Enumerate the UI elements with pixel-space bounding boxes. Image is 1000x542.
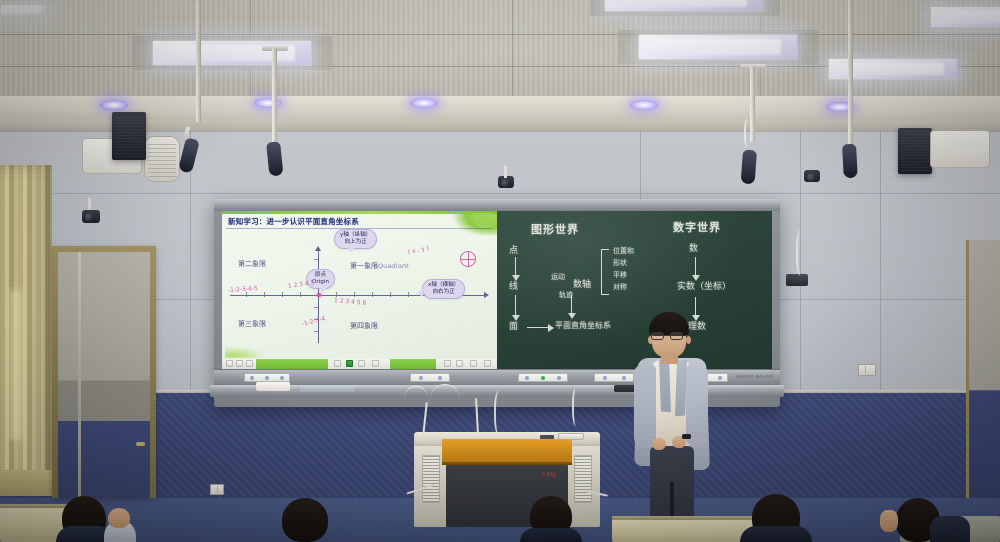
ink-annotation: ( x , y ) [407,245,429,256]
chalk-node-shu: 数 [689,241,698,254]
taskbar-green-block[interactable] [390,359,436,369]
taskbar-icon[interactable] [358,360,365,367]
bezel-control-plate[interactable] [410,373,450,382]
taskbar-icon[interactable] [372,360,379,367]
chalk-arrow-right [527,327,549,328]
x-axis-callout: x轴（横轴） 向右为正 [422,279,465,299]
coordinate-plane-graphic: 第二象限 第一象限Quadrant 第三象限 第四象限 原点 Origin y轴… [222,229,497,347]
indicator-dot-active [541,376,545,380]
wall-junction-box [786,274,808,286]
x-axis-arrow [484,292,489,298]
camera-mount-arm [504,166,507,178]
shelf-cable-bundle [300,385,354,392]
wall-cable [796,230,808,276]
origin-point [317,293,321,297]
ceiling-pole [196,0,201,122]
x-tick [264,292,265,297]
chalk-arrow-down [695,257,696,277]
y-axis-callout-line1: y轴（纵轴） [340,232,371,239]
ink-annotation: 1 2 3 4 5 [288,279,315,290]
power-outlet[interactable] [210,484,224,495]
indicator-dot [603,376,607,380]
taskbar-icon[interactable] [456,360,463,367]
door-left[interactable] [52,246,156,498]
teacher[interactable] [620,306,726,542]
student-body [930,516,970,542]
taskbar-icon[interactable] [226,360,233,367]
podium-logo: FSQ [542,472,556,478]
ink-annotation: -1-2-3-4 [301,315,326,328]
x-tick [354,292,355,297]
chalk-left-heading: 图形世界 [531,221,579,237]
projector-screen[interactable]: 新知学习：进一步认识平面直角坐标系 [222,211,497,369]
ceiling-panel-light [638,34,798,60]
slide-bottom-decor [225,346,267,358]
indicator-dot [265,376,269,380]
x-tick [372,292,373,297]
slide-title: 新知学习：进一步认识平面直角坐标系 [228,217,359,226]
x-axis-callout-line2: 向右为正 [428,289,459,296]
board-top-rail [214,199,780,211]
floor-cable [572,388,582,426]
quadrant-1-en: Quadrant [378,262,409,270]
chalk-bracket-item-4: 对称 [613,283,627,292]
camera-lens [807,173,816,182]
indicator-dot [438,376,442,380]
bezel-control-plate[interactable] [244,373,290,382]
chalk-node-dian: 点 [509,243,518,256]
downlight [254,98,282,108]
classroom-screenshot: 新知学习：进一步认识平面直角坐标系 [0,0,1000,542]
downlight [410,98,438,108]
shelf-white-box [256,382,290,391]
student-desk-edge [612,516,758,520]
glasses-lens-left [651,332,664,340]
chalk-arrow-down [571,295,572,315]
wall-seam-v [880,131,881,393]
student-hand [108,508,130,528]
power-outlet[interactable] [858,364,876,376]
chalk-arrow-down [515,295,516,317]
hanging-microphone [741,150,757,185]
y-tick [314,331,319,332]
board-brand-text: SMART BOARD [736,374,774,379]
quadrant-3-label: 第三象限 [238,319,266,329]
chalk-arrow-down [515,257,516,277]
ceiling-panel-light [0,4,46,16]
y-tick [314,259,319,260]
chalk-branch-label-top: 运动 [551,273,565,282]
quadrant-4-label: 第四象限 [350,321,378,331]
camera-lens [85,213,94,222]
indicator-dot [557,376,561,380]
air-vent [144,136,180,182]
curtain-light-glow [6,290,26,440]
chalk-bracket-item-2: 形状 [613,259,627,268]
student-body [740,526,812,542]
wall-speaker-right [898,128,932,174]
chalk-bottom-note: 平面直角坐标系 [555,321,611,330]
indicator-dot [250,376,254,380]
floor-cable [494,390,508,436]
door-lower-panel [58,421,150,498]
quadrant-1-label: 第一象限Quadrant [350,261,409,271]
y-axis-callout-line2: 向上为正 [340,239,371,246]
chalk-node-xian: 线 [509,279,518,292]
taskbar-icon[interactable] [484,360,491,367]
y-axis-arrow [315,246,321,251]
ink-circle-mark [460,251,476,267]
podium-speaker-grille [574,455,592,503]
ceiling-panel-light [152,40,312,66]
ink-annotation: -1-2-3-4-5 [228,285,258,294]
taskbar-icon[interactable] [246,360,253,367]
chalk-branch-head: 数轴 [573,277,591,290]
door-handle[interactable] [136,442,145,446]
teacher-wristwatch [682,434,691,439]
hanging-microphone [842,144,858,179]
quadrant-2-label: 第二象限 [238,259,266,269]
wall-ac-unit [930,130,990,168]
door-right[interactable] [966,240,1000,498]
taskbar-icon[interactable] [470,360,477,367]
chalk-node-shishu: 实数（坐标） [677,279,731,292]
ink-annotation: 1 2 3 4 5 6 [334,297,367,307]
indicator-dot [419,376,423,380]
chalk-bracket-item-1: 位置和 [613,247,634,256]
y-tick [314,307,319,308]
screen-taskbar[interactable] [222,359,497,369]
door-seam [78,252,81,498]
teacher-arm-left [634,364,656,448]
teacher-ear [686,336,691,344]
teacher-lapel-left [659,360,671,413]
y-axis [318,251,319,343]
wall-speaker-left [112,112,146,160]
student-head [282,498,328,542]
taskbar-icon[interactable] [236,360,243,367]
ceiling-pole [848,0,853,146]
teacher-podium[interactable]: FSQ [414,432,600,528]
taskbar-icon[interactable] [334,360,341,367]
downlight [630,100,658,110]
x-tick [246,292,247,297]
indicator-dot [280,376,284,380]
indicator-dot [525,376,529,380]
chalk-bracket [601,249,609,295]
chalk-node-mian: 面 [509,319,518,332]
x-tick [390,292,391,297]
mic-cable [744,118,754,148]
x-tick [300,292,301,297]
student-body [520,528,582,542]
glasses-bridge [664,335,670,336]
y-axis-callout: y轴（纵轴） 向上为正 [334,229,377,249]
curtain-hem [0,470,56,496]
teacher-hand-left [652,438,666,450]
ceiling-seam-v [512,0,513,100]
podium-desktop [442,439,572,464]
x-axis-callout-line1: x轴（横轴） [428,282,459,289]
taskbar-icon[interactable] [444,360,451,367]
chalk-right-heading: 数字世界 [673,219,721,235]
taskbar-green-block[interactable] [256,359,328,369]
origin-cn: 原点 [312,272,329,279]
wall-seam [0,193,1000,194]
podium-speaker-grille [422,455,440,503]
student-face [880,510,898,532]
wall-seam-v [640,131,641,201]
ceiling-panel-light [930,6,1000,28]
taskbar-icon-active[interactable] [346,360,353,367]
shelf-wire [430,384,460,414]
camera-lens [501,179,510,188]
x-tick [408,292,409,297]
glasses-lens-right [670,332,683,340]
downlight [100,100,128,110]
chalk-bracket-item-3: 平移 [613,271,627,280]
x-tick [282,292,283,297]
quadrant-1-cn: 第一象限 [350,262,378,270]
ceiling-pole [272,48,277,142]
ceiling-panel-light [604,0,764,12]
bezel-control-plate[interactable] [518,373,568,382]
